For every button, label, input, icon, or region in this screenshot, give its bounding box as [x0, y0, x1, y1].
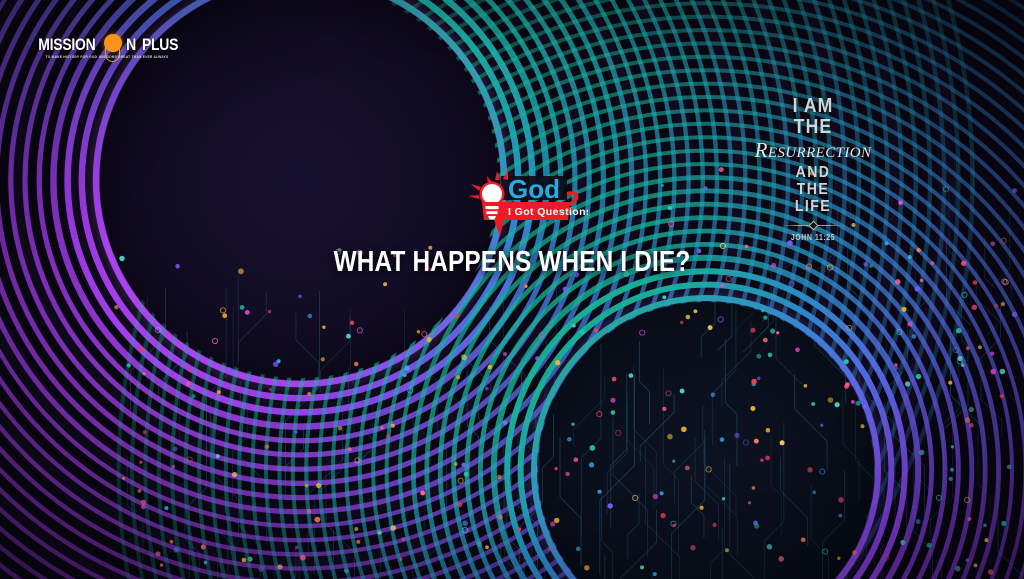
brand-logo-row: MISSION N PLUS: [32, 34, 183, 54]
brand-word-plus: PLUS: [142, 36, 178, 53]
scripture-reference: JOHN 11:25: [738, 233, 888, 242]
brand-logo[interactable]: MISSION N PLUS TO MAKE HISTORY FOR GOD M…: [42, 30, 172, 64]
scripture-line-5: LIFE: [736, 199, 889, 216]
scripture-line-4: THE: [736, 182, 889, 199]
brand-tagline: TO MAKE HISTORY FOR GOD MISSIONS GREAT T…: [46, 56, 169, 59]
scripture-keyword: Resurrection: [726, 139, 900, 163]
brand-word-n: N: [126, 36, 136, 53]
got-questions-artwork: ?: [458, 168, 588, 240]
diamond-divider-icon: [782, 221, 844, 230]
god-wordmark: God: [508, 174, 560, 204]
brand-tagline-left: TO MAKE HISTORY FOR GOD: [46, 56, 98, 59]
i-got-questions-text: I Got Questions: [508, 206, 588, 218]
orange-circle-icon: [103, 34, 123, 54]
slide-canvas: MISSION N PLUS TO MAKE HISTORY FOR GOD M…: [0, 0, 1024, 579]
scripture-line-3: AND: [736, 165, 889, 182]
page-title: WHAT HAPPENS WHEN I DIE?: [82, 246, 942, 279]
brand-word-mission: MISSION: [38, 36, 95, 53]
scripture-line-1: I AM: [736, 96, 889, 117]
background-artwork: [0, 0, 1024, 579]
brand-tagline-right: MISSIONS GREAT THAN EVER ALWAYS: [99, 56, 168, 59]
scripture-block: I AM THE Resurrection AND THE LIFE JOHN …: [726, 96, 900, 242]
got-questions-logo[interactable]: ?: [458, 168, 588, 240]
scripture-line-2: THE: [736, 117, 889, 138]
